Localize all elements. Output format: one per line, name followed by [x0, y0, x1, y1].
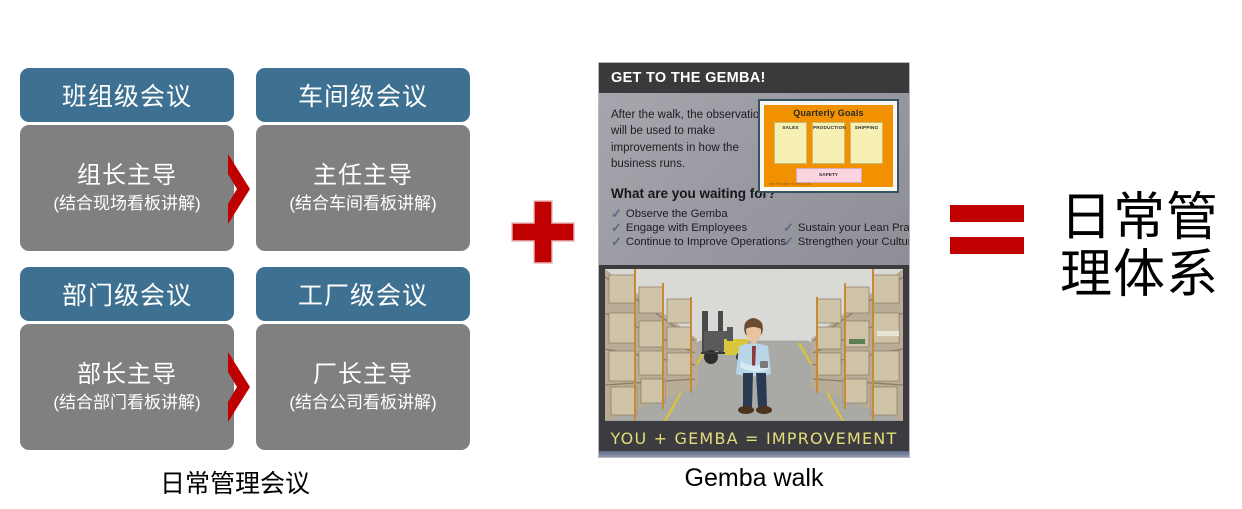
meeting-card-team[interactable]: 班组级会议 组长主导 (结合现场看板讲解) — [20, 68, 234, 251]
checklist-item-label: Strengthen your Culture — [798, 236, 909, 248]
poster-header-bar: GET TO THE GEMBA! — [599, 63, 909, 93]
checkmark-icon: ✓ — [611, 234, 622, 250]
goals-board-columns: SALES PRODUCTION SHIPPING — [774, 122, 883, 164]
plus-operator-icon — [508, 197, 578, 267]
checklist-item-label: Sustain your Lean Practices — [798, 222, 909, 234]
equals-bar-top — [950, 205, 1024, 222]
result-label: 日常管 理体系 — [1060, 190, 1238, 304]
checklist-item-label: Observe the Gemba — [626, 208, 728, 220]
meeting-card-team-body: 组长主导 (结合现场看板讲解) — [20, 125, 234, 251]
meeting-card-plant-body: 厂长主导 (结合公司看板讲解) — [256, 324, 470, 450]
meeting-card-plant-role: 厂长主导 — [313, 360, 413, 391]
checkmark-icon: ✓ — [783, 234, 794, 250]
meeting-card-shop-body: 主任主导 (结合车间看板讲解) — [256, 125, 470, 251]
poster-title: GET TO THE GEMBA! — [611, 70, 766, 86]
result-line-1: 日常管 — [1060, 190, 1238, 247]
checklist-item: ✓ Engage with Employees — [611, 221, 779, 235]
chevron-right-icon — [224, 152, 256, 226]
meeting-card-department-role: 部长主导 — [77, 360, 177, 391]
meeting-matrix-diagram: 班组级会议 组长主导 (结合现场看板讲解) 车间级会议 主任主导 (结合车间看板… — [0, 0, 500, 509]
gemba-walk-poster[interactable]: GET TO THE GEMBA! After the walk, the ob… — [599, 63, 909, 457]
checklist-item: ✓ Sustain your Lean Practices — [783, 221, 909, 235]
poster-slogan: YOU + GEMBA = IMPROVEMENT — [611, 429, 898, 448]
poster-slogan-bar: YOU + GEMBA = IMPROVEMENT — [599, 425, 909, 451]
poster-intro-text: After the walk, the observations will be… — [611, 107, 779, 172]
goals-column: PRODUCTION — [812, 122, 845, 164]
meeting-card-plant-note: (结合公司看板讲解) — [289, 392, 436, 414]
goals-column: SALES — [774, 122, 807, 164]
quarterly-goals-board: Quarterly Goals SALES PRODUCTION SHIPPIN… — [758, 99, 899, 193]
meeting-matrix-caption: 日常管理会议 — [0, 464, 470, 500]
warehouse-illustration — [599, 265, 909, 425]
poster-footer-strip — [599, 451, 909, 457]
meeting-card-department-body: 部长主导 (结合部门看板讲解) — [20, 324, 234, 450]
meeting-card-shop[interactable]: 车间级会议 主任主导 (结合车间看板讲解) — [256, 68, 470, 251]
checklist-item: ✓ Strengthen your Culture — [783, 235, 909, 249]
checklist-item: ✓ Observe the Gemba — [611, 207, 779, 221]
checklist-item-label: Engage with Employees — [626, 222, 747, 234]
meeting-card-plant-title: 工厂级会议 — [256, 267, 470, 321]
goals-board-heading: Quarterly Goals — [793, 108, 864, 118]
goals-column: SHIPPING — [850, 122, 883, 164]
meeting-card-team-title: 班组级会议 — [20, 68, 234, 122]
equals-bar-bottom — [950, 237, 1024, 254]
poster-checklist: ✓ Observe the Gemba ✓ Engage with Employ… — [611, 207, 897, 249]
checklist-item: ✓ Continue to Improve Operations — [611, 235, 779, 249]
meeting-card-shop-note: (结合车间看板讲解) — [289, 193, 436, 215]
result-line-2: 理体系 — [1060, 247, 1238, 304]
goals-board-inner: Quarterly Goals SALES PRODUCTION SHIPPIN… — [764, 105, 893, 187]
poster-upper-section: After the walk, the observations will be… — [599, 93, 909, 265]
goals-board-footnote: Lean Production Safety Goals — [768, 182, 810, 186]
meeting-card-department-note: (结合部门看板讲解) — [53, 392, 200, 414]
equals-gap — [950, 222, 1024, 237]
meeting-card-department[interactable]: 部门级会议 部长主导 (结合部门看板讲解) — [20, 267, 234, 450]
warehouse-svg — [605, 269, 903, 421]
meeting-card-department-title: 部门级会议 — [20, 267, 234, 321]
gemba-poster-caption: Gemba walk — [599, 464, 909, 493]
equals-operator-icon — [950, 205, 1024, 254]
meeting-card-shop-role: 主任主导 — [313, 161, 413, 192]
meeting-card-shop-title: 车间级会议 — [256, 68, 470, 122]
meeting-card-team-note: (结合现场看板讲解) — [53, 193, 200, 215]
goals-safety-card: SAFETY — [796, 168, 862, 183]
meeting-card-team-role: 组长主导 — [77, 161, 177, 192]
chevron-right-icon — [224, 350, 256, 424]
checklist-item-label: Continue to Improve Operations — [626, 236, 786, 248]
meeting-card-plant[interactable]: 工厂级会议 厂长主导 (结合公司看板讲解) — [256, 267, 470, 450]
